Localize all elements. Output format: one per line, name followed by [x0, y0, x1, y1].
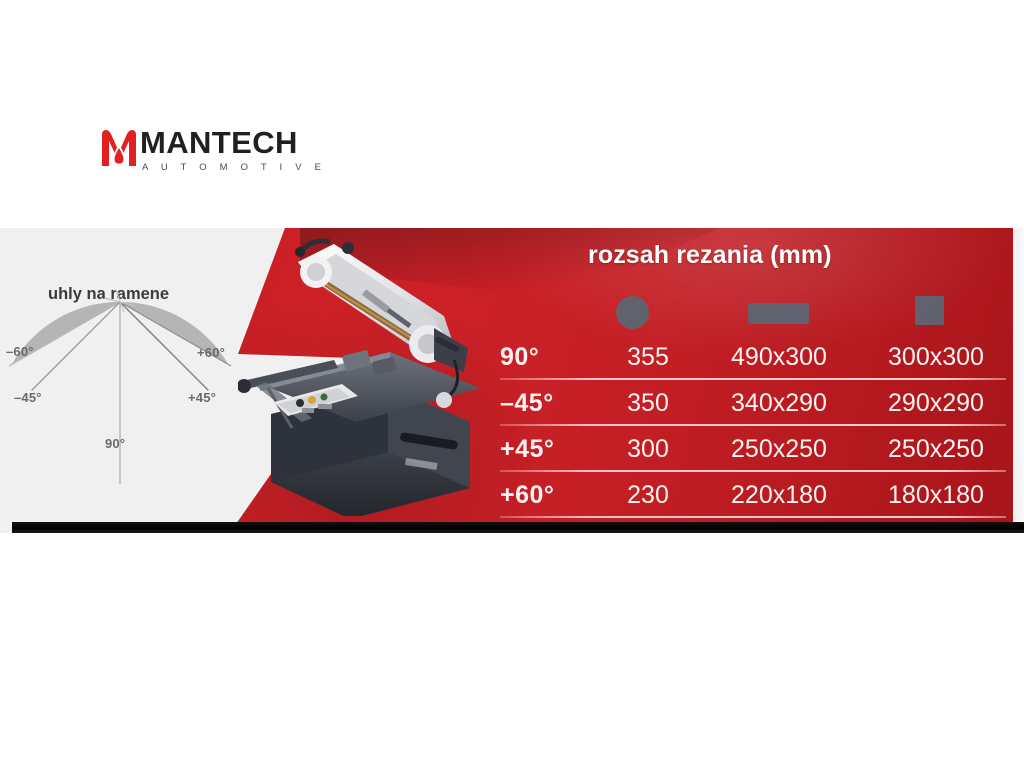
brand-subtitle: A U T O M O T I V E: [142, 162, 326, 174]
cell-rectangle: 220x180: [700, 472, 858, 518]
table-row: –45° 350 340x290 290x290: [0, 380, 1013, 426]
table-row: +45° 300 250x250 250x250: [0, 426, 1013, 472]
table-row: +60° 230 220x180 180x180: [0, 472, 1013, 518]
cell-round: 350: [600, 380, 696, 426]
cell-square: 300x300: [866, 334, 1006, 380]
cell-round: 355: [600, 334, 696, 380]
row-separator: [500, 516, 1006, 518]
page-root: MANTECH A U T O M O T I V E uhly na rame…: [0, 0, 1024, 768]
cell-rectangle: 340x290: [700, 380, 858, 426]
brand-text: MANTECH A U T O M O T I V E: [140, 126, 326, 174]
brand-name: MANTECH: [140, 126, 326, 160]
cell-angle: 90°: [500, 334, 606, 380]
mantech-m-logo-icon: [100, 128, 138, 168]
profile-shape-header-row: [0, 292, 1013, 334]
cell-rectangle: 490x300: [700, 334, 858, 380]
cell-round: 230: [600, 472, 696, 518]
cutting-range-table: 90° 355 490x300 300x300 –45° 350 340x290…: [0, 334, 1013, 518]
cell-angle: +45°: [500, 426, 606, 472]
brand-logo: MANTECH A U T O M O T I V E: [100, 126, 400, 182]
cell-square: 250x250: [866, 426, 1006, 472]
round-profile-icon: [616, 296, 649, 329]
cell-square: 180x180: [866, 472, 1006, 518]
cell-angle: –45°: [500, 380, 606, 426]
cell-round: 300: [600, 426, 696, 472]
cell-angle: +60°: [500, 472, 606, 518]
spec-table-title: rozsah rezania (mm): [588, 241, 832, 270]
cell-rectangle: 250x250: [700, 426, 858, 472]
cell-square: 290x290: [866, 380, 1006, 426]
product-spec-banner: uhly na ramene –60° –45° 90° +45° +60°: [0, 228, 1024, 533]
table-row: 90° 355 490x300 300x300: [0, 334, 1013, 380]
square-profile-icon: [915, 296, 944, 325]
banner-right-edge: [1013, 228, 1024, 524]
rectangular-profile-icon: [748, 303, 809, 324]
